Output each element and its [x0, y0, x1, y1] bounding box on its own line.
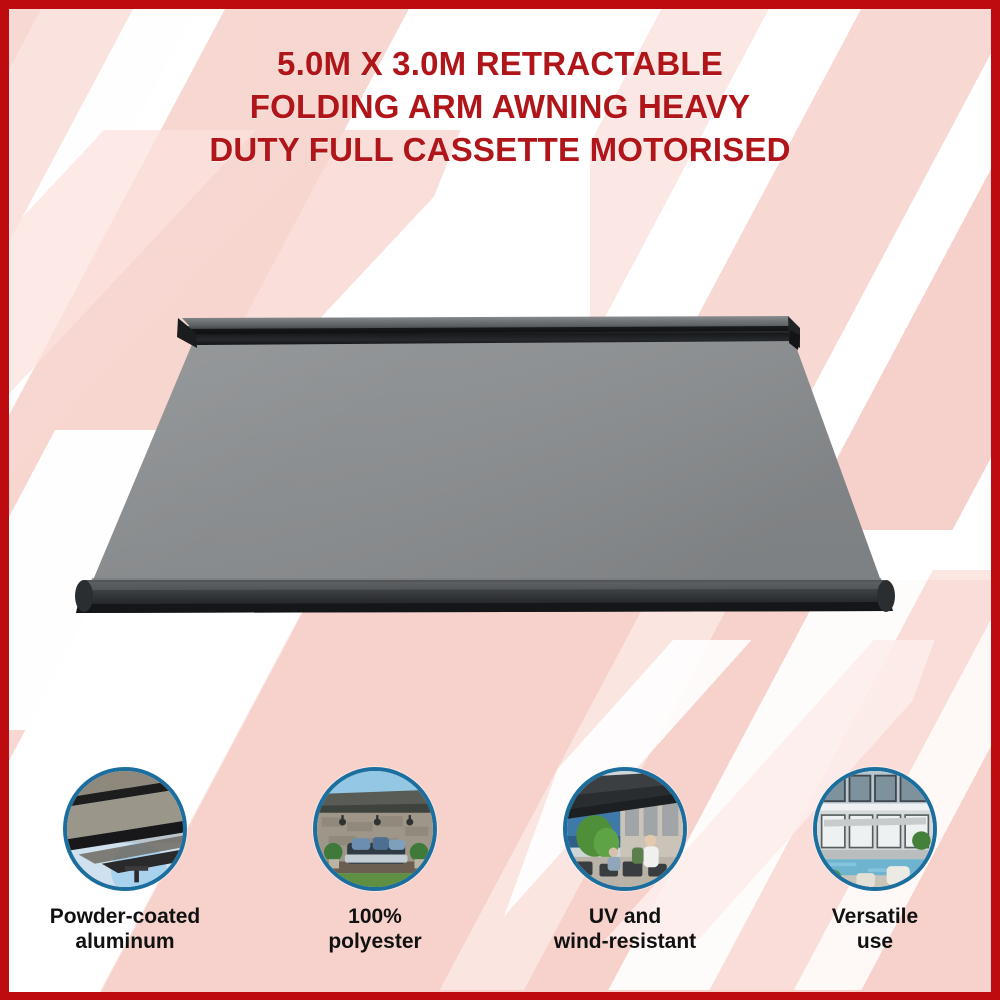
feature-label-line-1: Versatile: [832, 904, 918, 929]
front-bar-right-cap: [877, 580, 895, 612]
feature-badges: Powder-coated aluminum: [0, 767, 1000, 982]
feature-item-uv-and-wind-resistant: UV and wind-resistant: [500, 767, 750, 982]
terrace-awning-people-icon: [563, 767, 687, 891]
feature-label: Versatile use: [832, 904, 918, 954]
awning-aluminium-frame-icon: [63, 767, 187, 891]
product-title-line-2: FOLDING ARM AWNING HEAVY: [40, 85, 960, 128]
awning-front-bar: [75, 580, 895, 613]
feature-label-line-2: aluminum: [50, 929, 201, 954]
frame-border-right: [991, 0, 1000, 1000]
frame-border-top: [0, 0, 1000, 9]
product-title: 5.0M X 3.0M RETRACTABLE FOLDING ARM AWNI…: [40, 42, 960, 171]
feature-label-line-2: use: [832, 929, 918, 954]
feature-label-line-1: UV and: [554, 904, 696, 929]
feature-label: Powder-coated aluminum: [50, 904, 201, 954]
front-bar-left-cap: [75, 580, 93, 612]
awning-fabric-panel: [88, 330, 885, 592]
feature-label: UV and wind-resistant: [554, 904, 696, 954]
feature-label: 100% polyester: [328, 904, 421, 954]
product-title-line-3: DUTY FULL CASSETTE MOTORISED: [40, 128, 960, 171]
product-image-canvas: 5.0M X 3.0M RETRACTABLE FOLDING ARM AWNI…: [0, 0, 1000, 1000]
feature-item-versatile-use: Versatile use: [750, 767, 1000, 982]
feature-label-line-2: wind-resistant: [554, 929, 696, 954]
frame-border-bottom: [0, 992, 1000, 1000]
feature-item-powder-coated-aluminum: Powder-coated aluminum: [0, 767, 250, 982]
product-title-line-1: 5.0M X 3.0M RETRACTABLE: [40, 42, 960, 85]
feature-label-line-1: 100%: [328, 904, 421, 929]
feature-item-100-polyester: 100% polyester: [250, 767, 500, 982]
modern-house-pool-awning-icon: [813, 767, 937, 891]
frame-border-left: [0, 0, 9, 1000]
feature-label-line-1: Powder-coated: [50, 904, 201, 929]
patio-sofa-awning-icon: [313, 767, 437, 891]
feature-label-line-2: polyester: [328, 929, 421, 954]
